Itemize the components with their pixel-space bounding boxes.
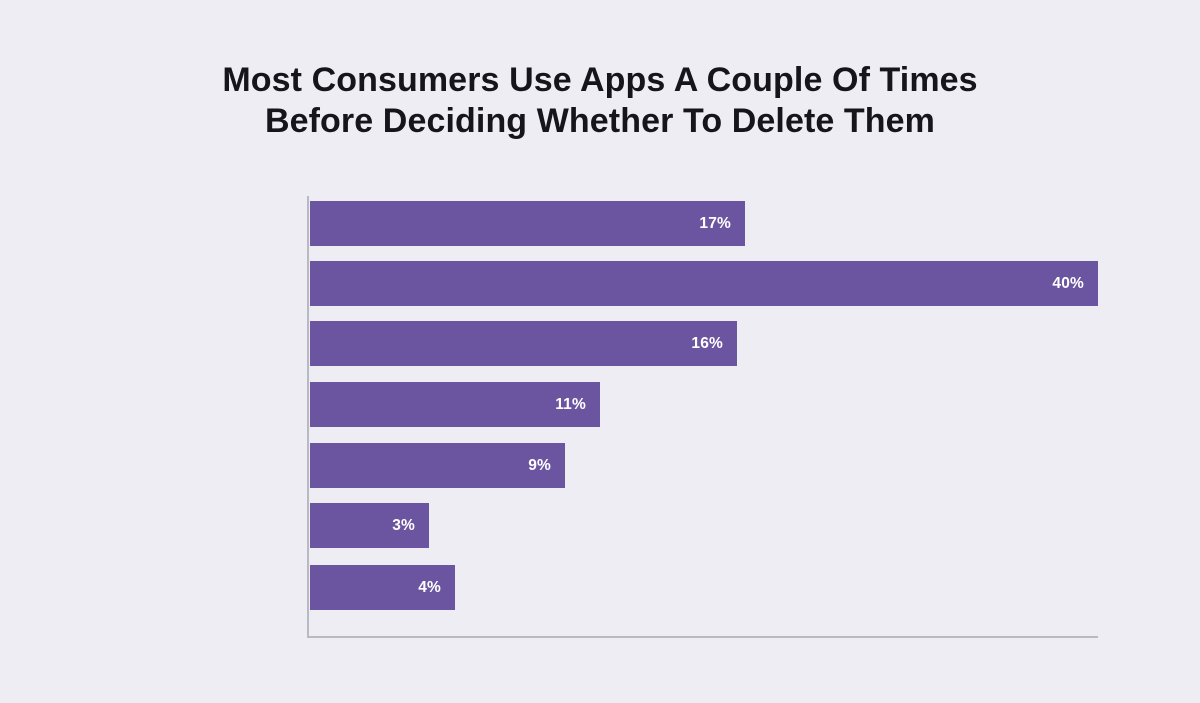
- bar-track: 9%: [310, 443, 565, 488]
- bar-track: 11%: [310, 382, 600, 427]
- bar-track: 40%: [310, 261, 1098, 306]
- bar-value-label: 16%: [691, 335, 723, 353]
- bar-value-label: 4%: [418, 579, 441, 597]
- bar-rect[interactable]: 4%: [310, 565, 455, 610]
- bar-track: 16%: [310, 321, 737, 366]
- chart-container: Most Consumers Use Apps A Couple Of Time…: [0, 0, 1200, 703]
- bar-value-label: 9%: [528, 457, 551, 475]
- y-axis-line: [307, 196, 309, 638]
- bar-rect[interactable]: 40%: [310, 261, 1098, 306]
- bar-rect[interactable]: 3%: [310, 503, 429, 548]
- bar-value-label: 3%: [392, 517, 415, 535]
- bar-rect[interactable]: 16%: [310, 321, 737, 366]
- bar-rect[interactable]: 17%: [310, 201, 745, 246]
- plot-area: After first use 17% After a couple of us…: [0, 0, 1200, 703]
- bar-rect[interactable]: 9%: [310, 443, 565, 488]
- bar-value-label: 11%: [555, 396, 586, 414]
- bar-track: 4%: [310, 565, 455, 610]
- bar-track: 17%: [310, 201, 745, 246]
- bar-track: 3%: [310, 503, 429, 548]
- bar-value-label: 17%: [699, 215, 731, 233]
- bar-value-label: 40%: [1052, 275, 1084, 293]
- x-axis-line: [307, 636, 1098, 638]
- bar-rect[interactable]: 11%: [310, 382, 600, 427]
